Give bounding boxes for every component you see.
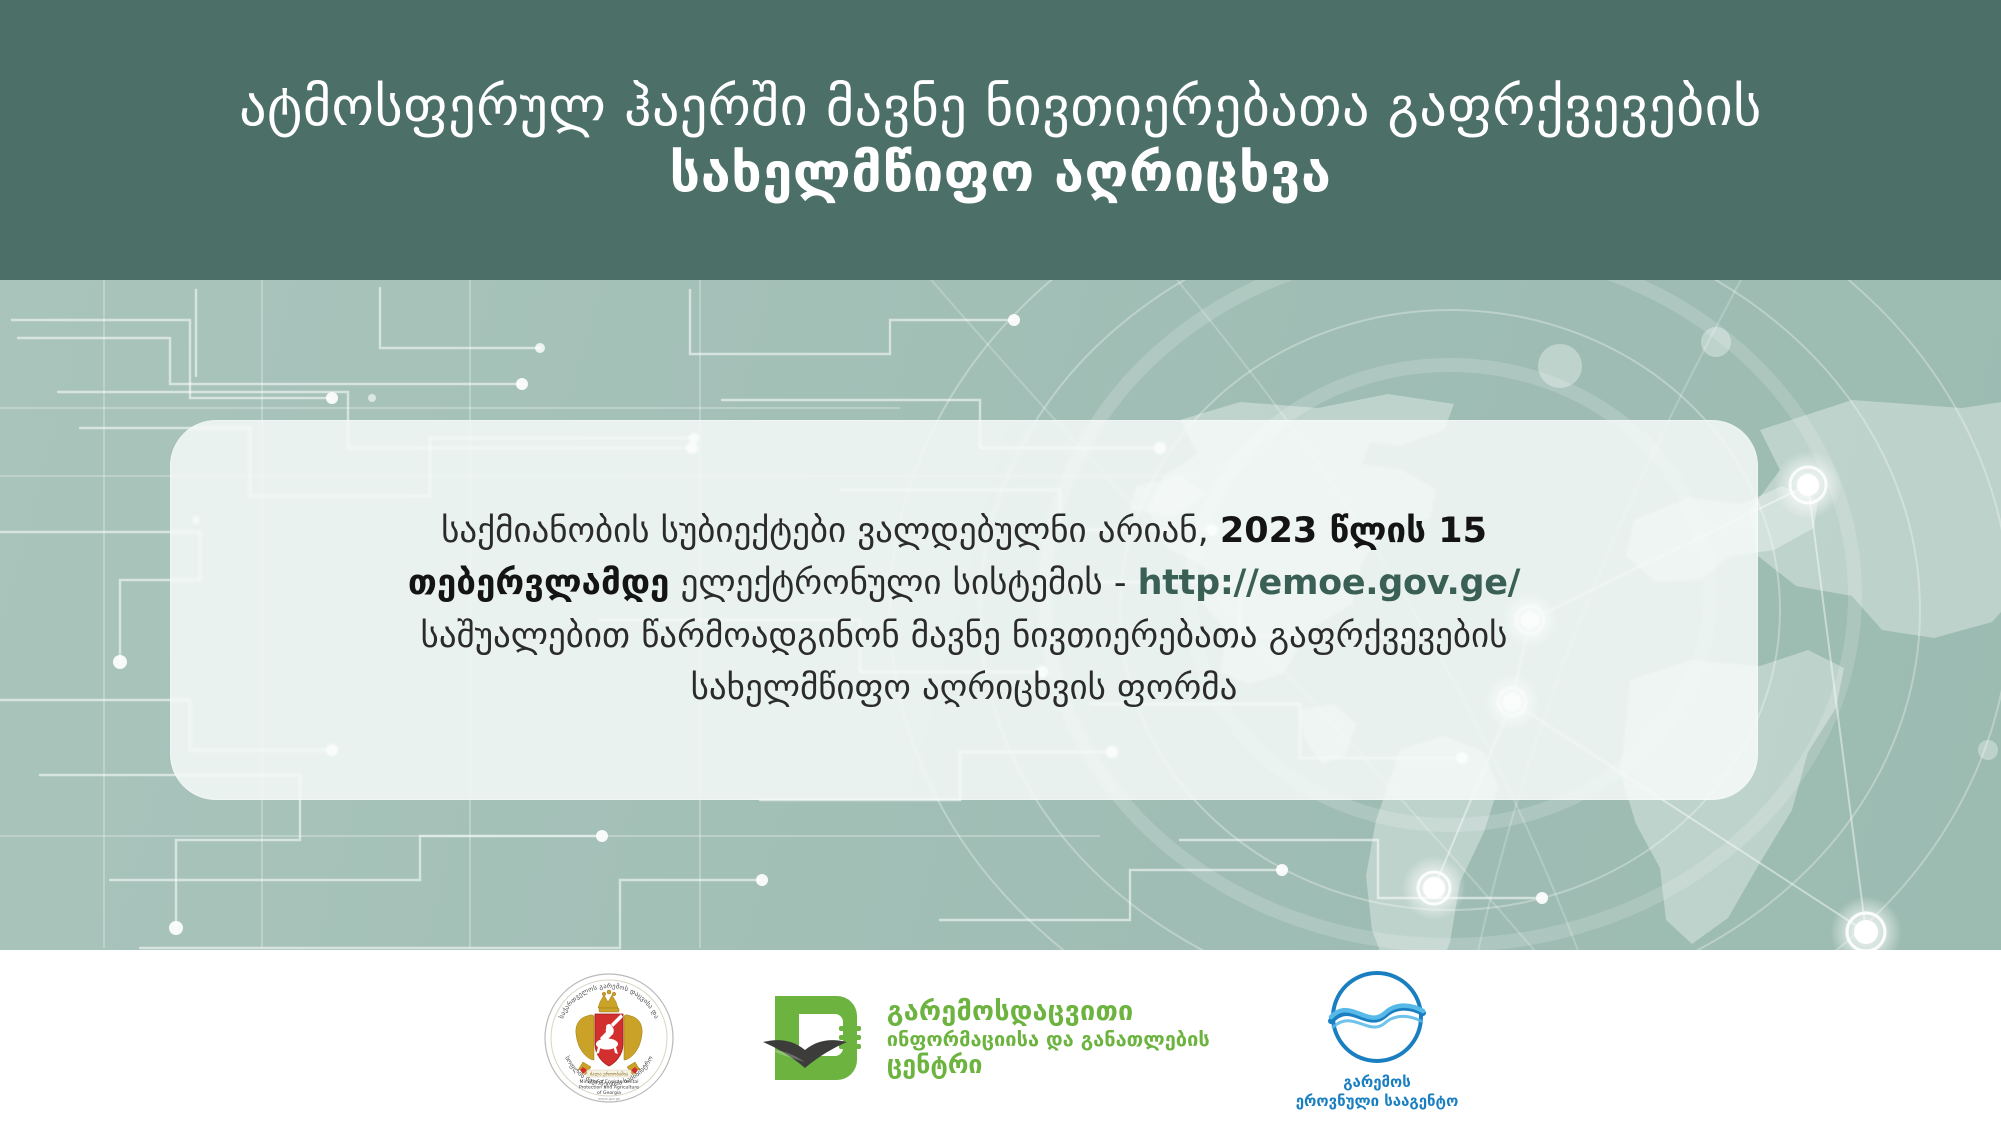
svg-text:ძალა ერთობაშია: ძალა ერთობაშია xyxy=(589,1070,628,1077)
card-line-3: საშუალებით წარმოადგინონ მავნე ნივთიერება… xyxy=(421,614,1508,660)
emoe-portal-link[interactable]: http://emoe.gov.ge/ xyxy=(1138,563,1521,603)
card-line2-normal: ელექტრონული სისტემის - xyxy=(669,563,1137,603)
card-line1-bold: 2023 წლის 15 xyxy=(1220,511,1487,551)
eiec-line-3: ცენტრი xyxy=(887,1052,1210,1077)
eiec-wordmark: გარემოსდაცვითი ინფორმაციისა და განათლები… xyxy=(887,998,1210,1077)
eiec-line-1: გარემოსდაცვითი xyxy=(887,998,1210,1025)
card-line-2: თებერვლამდე ელექტრონული სისტემის - http:… xyxy=(408,561,1520,607)
eiec-logo: გარემოსდაცვითი ინფორმაციისა და განათლები… xyxy=(761,990,1210,1086)
card-line1-normal: საქმიანობის სუბიექტები ვალდებულნი არიან, xyxy=(441,511,1220,551)
nea-line-2: ეროვნული სააგენტო xyxy=(1296,1092,1459,1110)
eiec-book-icon xyxy=(761,990,873,1086)
card-line-4: სახელმწიფო აღრიცხვის ფორმა xyxy=(691,666,1238,712)
card-line-1: საქმიანობის სუბიექტები ვალდებულნი არიან,… xyxy=(441,509,1487,555)
nea-logo: გარემოს ეროვნული სააგენტო xyxy=(1296,965,1459,1110)
nea-line-1: გარემოს xyxy=(1343,1073,1411,1091)
seal-caption-en-3: of Georgia xyxy=(597,1089,621,1095)
seal-caption-url: mepa.gov.ge xyxy=(598,1097,620,1101)
page-title-line1: ატმოსფერულ ჰაერში მავნე ნივთიერებათა გაფ… xyxy=(239,77,1762,137)
page-title-line2: სახელმწიფო აღრიცხვა xyxy=(670,143,1332,203)
banner-header: ატმოსფერულ ჰაერში მავნე ნივთიერებათა გაფ… xyxy=(0,0,2001,280)
ministry-seal-icon: საქართველოს გარემოს დაცვისა და სოფლის მე… xyxy=(543,972,675,1104)
card-line2-bold: თებერვლამდე xyxy=(408,563,670,603)
banner-root: ატმოსფერულ ჰაერში მავნე ნივთიერებათა გაფ… xyxy=(0,0,2001,1125)
footer-logos: საქართველოს გარემოს დაცვისა და სოფლის მე… xyxy=(0,950,2001,1125)
info-card: საქმიანობის სუბიექტები ვალდებულნი არიან,… xyxy=(170,420,1758,800)
seal-caption-en-2: Protection and Agriculture xyxy=(579,1084,639,1090)
eiec-line-2: ინფორმაციისა და განათლების xyxy=(887,1029,1210,1049)
nea-wave-circle-icon xyxy=(1325,965,1429,1069)
seal-caption-en-1: Ministry of Environmental xyxy=(579,1079,638,1085)
ministry-seal-logo: საქართველოს გარემოს დაცვისა და სოფლის მე… xyxy=(543,972,675,1104)
